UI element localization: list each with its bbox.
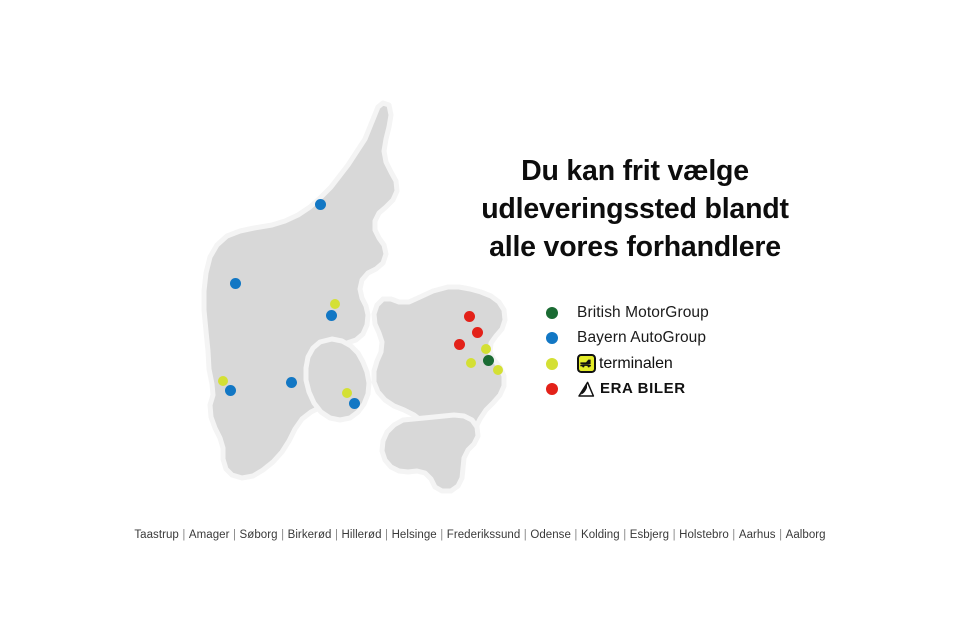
city-name: Aalborg xyxy=(785,529,827,541)
city-separator: | xyxy=(279,529,287,541)
map-marker-holstebro-bayern[interactable] xyxy=(230,278,241,289)
city-separator: | xyxy=(777,529,785,541)
city-list-strip: Taastrup|Amager|Søborg|Birkerød|Hillerød… xyxy=(0,528,960,542)
promo-canvas: Du kan frit vælge udleveringssted blandt… xyxy=(0,0,960,640)
city-name: Hillerød xyxy=(341,529,383,541)
headline-line-3: alle vores forhandlere xyxy=(470,228,800,266)
city-separator: | xyxy=(438,529,446,541)
city-name: Søborg xyxy=(239,529,279,541)
city-name: Helsinge xyxy=(391,529,438,541)
era-biler-wordmark: ERA BILER xyxy=(600,381,686,397)
terminalen-logo: terminalen xyxy=(577,354,673,373)
landmass-jutland xyxy=(204,103,397,478)
terminalen-car-badge-icon xyxy=(577,354,596,373)
city-separator: | xyxy=(383,529,391,541)
legend-label-british-motorgroup: British MotorGroup xyxy=(577,305,709,321)
landmass-lolland-falster xyxy=(382,415,478,491)
terminalen-wordmark: terminalen xyxy=(599,356,673,372)
era-biler-triangle-icon xyxy=(577,381,597,398)
map-marker-helsinge-era[interactable] xyxy=(464,311,475,322)
map-marker-frederikssund-era[interactable] xyxy=(454,339,465,350)
city-separator: | xyxy=(231,529,239,541)
map-marker-amager-british[interactable] xyxy=(483,355,494,366)
map-landmasses xyxy=(204,103,505,491)
city-separator: | xyxy=(621,529,629,541)
city-separator: | xyxy=(332,529,340,541)
legend-swatch-yellow-icon xyxy=(546,358,558,370)
headline: Du kan frit vælge udleveringssted blandt… xyxy=(470,152,800,266)
legend-swatch-blue-icon xyxy=(546,332,558,344)
legend-swatch-red-icon xyxy=(546,383,558,395)
map-marker-esbjerg-bayern[interactable] xyxy=(225,385,236,396)
map-marker-hillerod-era[interactable] xyxy=(472,327,483,338)
headline-line-1: Du kan frit vælge xyxy=(470,152,800,190)
legend-item-terminalen[interactable]: terminalen xyxy=(546,351,806,377)
city-name: Odense xyxy=(529,529,572,541)
map-marker-birkerod-terminalen[interactable] xyxy=(481,344,491,354)
city-name: Kolding xyxy=(580,529,621,541)
legend-swatch-green-icon xyxy=(546,307,558,319)
map-marker-aarhus-bayern[interactable] xyxy=(326,310,337,321)
city-name: Amager xyxy=(188,529,231,541)
map-marker-aalborg-bayern[interactable] xyxy=(315,199,326,210)
map-marker-odense-terminalen[interactable] xyxy=(342,388,352,398)
brand-legend: British MotorGroup Bayern AutoGroup term… xyxy=(546,300,806,402)
city-name: Taastrup xyxy=(133,529,180,541)
legend-item-era-biler[interactable]: ERA BILER xyxy=(546,377,806,403)
city-separator: | xyxy=(572,529,580,541)
landmass-funen xyxy=(306,339,369,420)
city-name: Frederikssund xyxy=(446,529,522,541)
era-biler-logo: ERA BILER xyxy=(577,381,686,398)
city-name: Holstebro xyxy=(678,529,730,541)
map-marker-aarhus-terminalen[interactable] xyxy=(330,299,340,309)
legend-item-british-motorgroup[interactable]: British MotorGroup xyxy=(546,300,806,326)
city-name: Aarhus xyxy=(738,529,777,541)
city-separator: | xyxy=(180,529,188,541)
map-marker-odense-bayern[interactable] xyxy=(349,398,360,409)
headline-line-2: udleveringssted blandt xyxy=(470,190,800,228)
map-marker-kolding-bayern[interactable] xyxy=(286,377,297,388)
legend-item-bayern-autogroup[interactable]: Bayern AutoGroup xyxy=(546,326,806,352)
city-separator: | xyxy=(670,529,678,541)
map-marker-soborg-terminalen[interactable] xyxy=(466,358,476,368)
city-name: Esbjerg xyxy=(629,529,670,541)
city-name: Birkerød xyxy=(287,529,333,541)
legend-label-bayern-autogroup: Bayern AutoGroup xyxy=(577,330,706,346)
city-separator: | xyxy=(730,529,738,541)
map-marker-esbjerg-terminalen[interactable] xyxy=(218,376,228,386)
map-marker-taastrup-terminalen[interactable] xyxy=(493,365,503,375)
